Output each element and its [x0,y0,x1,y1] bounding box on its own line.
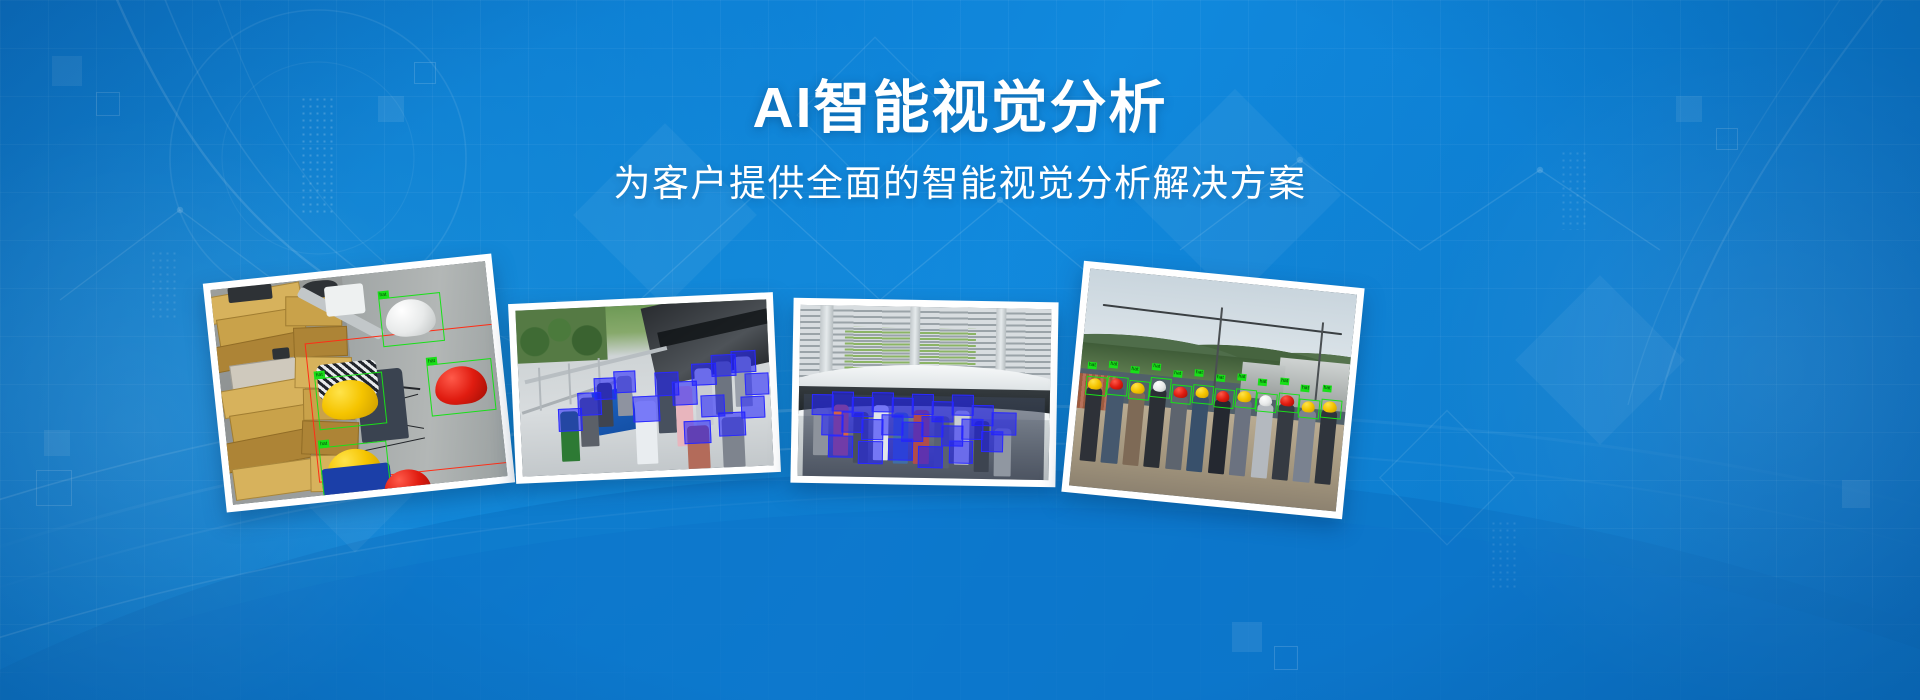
detection-label: hat [1237,374,1247,382]
detection-label: hat [318,440,330,449]
detection-box-person [888,438,913,461]
detection-box-helmet [1320,398,1343,419]
detection-box-person [912,394,934,415]
detection-label: hat [1280,378,1290,386]
detection-label: hat [1258,378,1268,386]
detection-box-person [952,395,974,416]
detection-box-person [811,394,833,415]
detection-box-person [918,445,943,468]
photo-canvas [798,305,1052,480]
photo-canvas: hat hat hat hat [210,261,507,505]
detection-label: hat [1194,370,1204,378]
detection-box-person [858,441,883,464]
detection-box-helmet [1192,384,1215,405]
detection-box-person [684,420,712,445]
detection-box-helmet [1085,375,1108,396]
gallery-photo-outdoor-group-helmet-detection[interactable]: hat hat hat hat hat hat hat hat hat ha [1061,261,1364,519]
photo-canvas [515,299,773,476]
detection-label: hat [1152,363,1162,371]
page-title: AI智能视觉分析 [0,78,1920,138]
detection-box-person [961,419,983,440]
hero-banner: AI智能视觉分析 为客户提供全面的智能视觉分析解决方案 [0,0,1920,700]
detection-label: hat [1109,361,1119,369]
trees [515,307,608,364]
detection-box-helmet [1256,392,1279,413]
detection-box-person [948,441,973,464]
detection-box-helmet: hat [426,358,497,416]
detection-label: hat [1322,384,1332,392]
detection-box-person [881,414,903,435]
detection-box-person [921,416,943,437]
detection-label: hat [426,357,438,366]
detection-label: hat [1301,384,1311,392]
detection-box-person [828,435,853,458]
detection-label: hat [1087,361,1097,369]
photo-canvas: hat hat hat hat hat hat hat hat hat ha [1069,268,1357,511]
detection-box-helmet [1234,388,1257,409]
detection-box-person [614,370,637,393]
detection-box-helmet [1128,380,1151,401]
detection-box-person [871,392,893,413]
detection-box-person [821,415,843,436]
detection-box-person [731,350,757,373]
detection-box-person [831,391,853,412]
detection-label: hat [313,371,325,380]
detection-label: hat [1130,366,1140,374]
detection-label: hat [1173,370,1183,378]
gallery-photo-station-platform-crowd[interactable] [790,298,1058,488]
hero-copy: AI智能视觉分析 为客户提供全面的智能视觉分析解决方案 [0,78,1920,207]
detection-box-person [744,372,770,395]
detection-box-helmet: hat [314,372,387,431]
gallery-photo-pedestrian-bridge-crowd[interactable] [508,292,781,484]
detection-box-helmet [1277,392,1300,413]
detection-box-helmet [1298,399,1321,420]
detection-box-person [841,412,863,433]
detection-box-helmet [1106,375,1129,396]
detection-box-helmet [1149,377,1172,398]
detection-box-person [740,396,766,419]
detection-box-person [861,419,883,440]
gallery-photo-warehouse-helmet-detection[interactable]: hat hat hat hat [203,253,515,512]
detection-box-person [700,394,726,417]
detection-box-helmet [1213,388,1236,409]
detection-label: hat [377,290,389,299]
detection-box-person [632,396,660,422]
detection-box-helmet: hat [378,292,446,348]
photo-gallery: hat hat hat hat [0,250,1920,550]
detection-box-helmet: hat [319,441,392,497]
detection-label: hat [1215,374,1225,382]
detection-box-helmet [1170,384,1193,405]
detection-box-person [981,431,1003,452]
white-bin [324,283,366,317]
page-subtitle: 为客户提供全面的智能视觉分析解决方案 [0,162,1920,206]
clutter [272,347,290,359]
